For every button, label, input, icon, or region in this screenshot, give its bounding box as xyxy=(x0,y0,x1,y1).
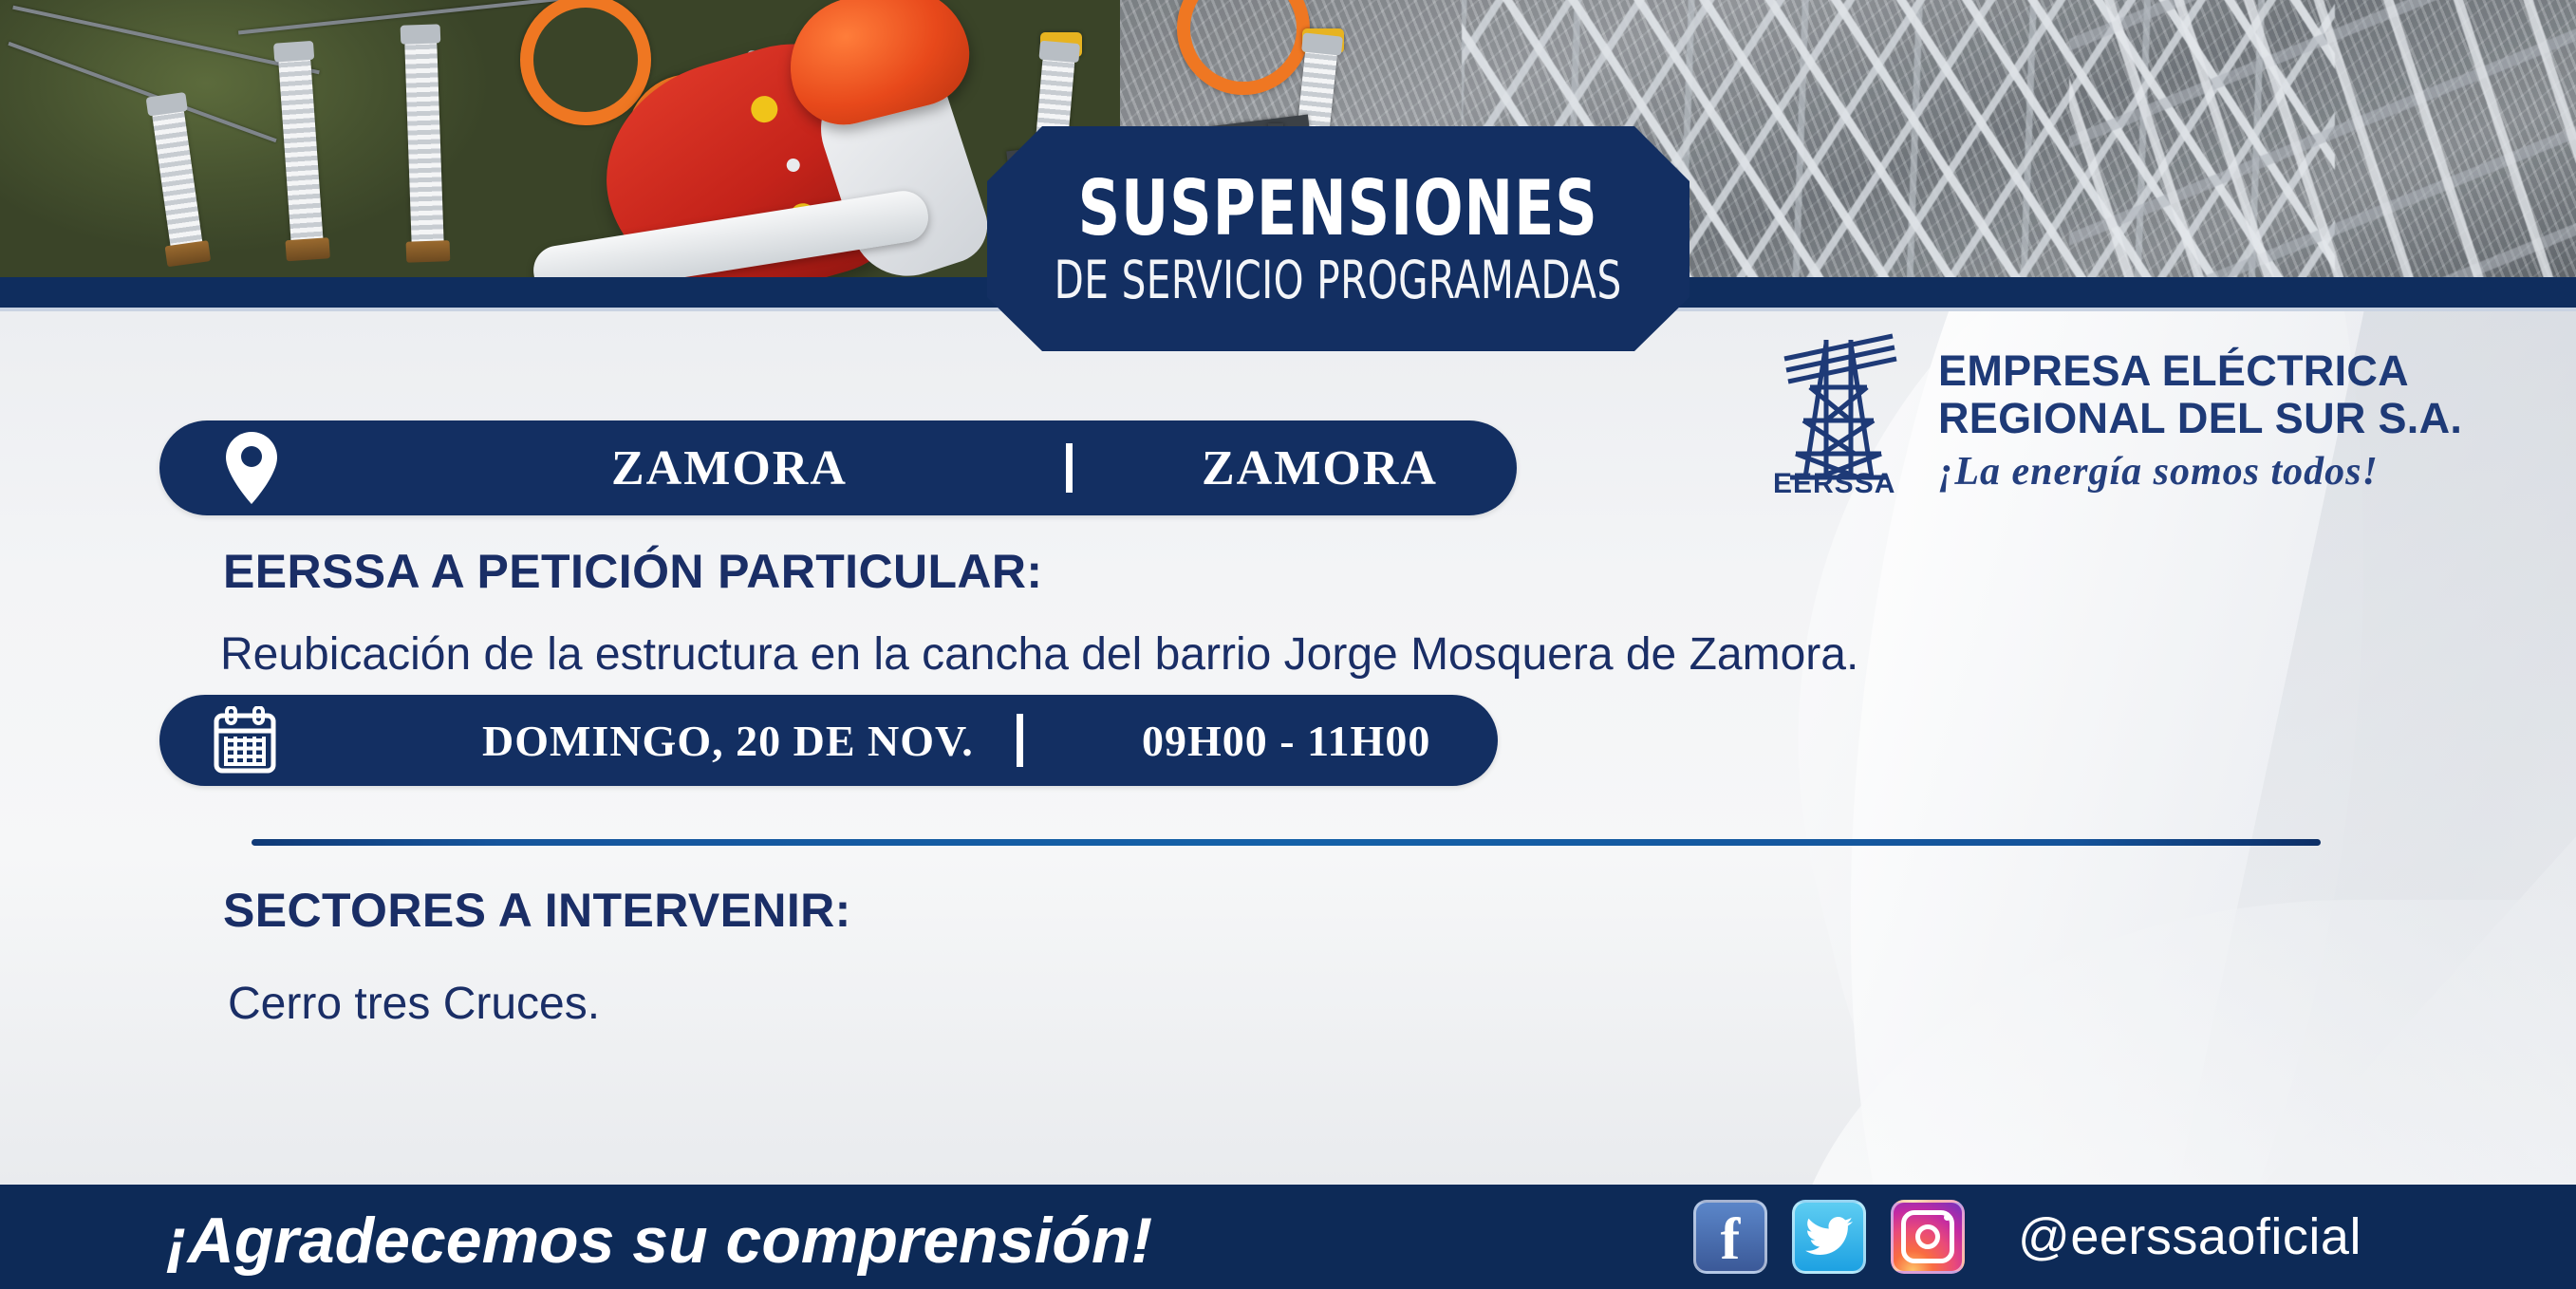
date-value: DOMINGO, 20 DE NOV. xyxy=(482,716,974,766)
date-time-pill: DOMINGO, 20 DE NOV. 09H00 - 11H00 xyxy=(159,695,1498,786)
suspension-notice-poster: SUSPENSIONES DE SERVICIO PROGRAMADAS xyxy=(0,0,2576,1289)
transmission-tower-icon: EERSSA xyxy=(1767,330,1910,496)
photo-corona-ring xyxy=(520,0,651,125)
sectors-heading: SECTORES A INTERVENIR: xyxy=(223,883,851,938)
notice-heading: EERSSA A PETICIÓN PARTICULAR: xyxy=(223,544,1042,599)
photo-lattice-tower-secondary xyxy=(2069,0,2576,277)
map-pin-icon xyxy=(218,432,285,504)
date-separator xyxy=(1017,714,1023,767)
calendar-icon xyxy=(209,706,281,775)
background-swoosh xyxy=(1784,900,2576,1185)
eerssa-logo: EERSSA EMPRESA ELÉCTRICA REGIONAL DEL SU… xyxy=(1767,330,2462,496)
footer-message: ¡Agradecemos su comprensión! xyxy=(166,1204,1152,1278)
photo-vest-dot xyxy=(785,157,801,173)
location-separator xyxy=(1066,443,1073,493)
logo-company-line1: EMPRESA ELÉCTRICA xyxy=(1938,347,2462,395)
footer-bar: ¡Agradecemos su comprensión! f @eerssaof… xyxy=(0,1185,2576,1289)
section-divider xyxy=(252,839,2321,846)
page-title: SUSPENSIONES xyxy=(1078,171,1598,247)
logo-mark-word: EERSSA xyxy=(1773,468,1895,500)
social-handle: @eerssaoficial xyxy=(2018,1207,2361,1266)
time-value: 09H00 - 11H00 xyxy=(1142,716,1430,766)
instagram-camera-glyph xyxy=(1901,1210,1954,1263)
background-swoosh xyxy=(2041,482,2576,1185)
facebook-icon[interactable]: f xyxy=(1693,1200,1767,1274)
logo-company-line2: REGIONAL DEL SUR S.A. xyxy=(1938,395,2462,442)
social-links: f @eerssaoficial xyxy=(1693,1200,2361,1274)
page-subtitle: DE SERVICIO PROGRAMADAS xyxy=(1055,254,1622,307)
title-banner: SUSPENSIONES DE SERVICIO PROGRAMADAS xyxy=(987,126,1689,351)
location-canton: ZAMORA xyxy=(1202,440,1438,496)
location-province: ZAMORA xyxy=(611,440,848,496)
photo-vest-dot xyxy=(748,93,781,126)
sectors-list: Cerro tres Cruces. xyxy=(228,978,600,1030)
notice-description: Reubicación de la estructura en la canch… xyxy=(220,628,1858,681)
logo-slogan: ¡La energía somos todos! xyxy=(1938,449,2462,495)
instagram-icon[interactable] xyxy=(1891,1200,1965,1274)
twitter-icon[interactable] xyxy=(1792,1200,1866,1274)
facebook-glyph: f xyxy=(1721,1210,1741,1269)
location-pill: ZAMORA ZAMORA xyxy=(159,420,1517,515)
